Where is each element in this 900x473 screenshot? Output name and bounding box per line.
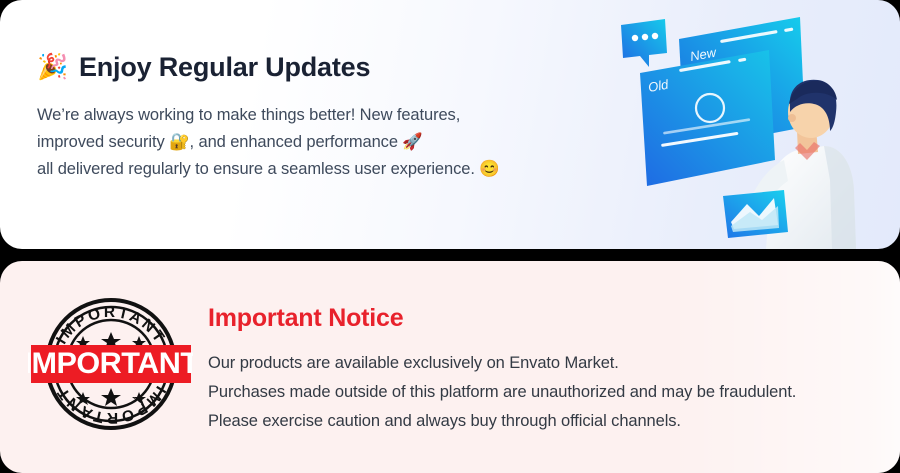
illustration-label-old: Old xyxy=(647,77,670,95)
important-stamp-icon: IMPORTANT IMPORTANT IMPORTANT xyxy=(28,288,193,438)
notice-text-block: Important Notice Our products are availa… xyxy=(208,305,878,436)
illustration-person xyxy=(743,80,856,249)
updates-illustration: New Old xyxy=(592,0,892,249)
updates-text-block: 🎉 Enjoy Regular Updates We’re always wor… xyxy=(37,52,597,183)
stamp-center-text: IMPORTANT xyxy=(28,347,193,380)
updates-body-line-3: all delivered regularly to ensure a seam… xyxy=(37,156,597,183)
notice-body-line-1: Our products are available exclusively o… xyxy=(208,349,878,378)
updates-panel: 🎉 Enjoy Regular Updates We’re always wor… xyxy=(0,0,900,249)
notice-body-line-3: Please exercise caution and always buy t… xyxy=(208,407,878,436)
updates-heading-label: Enjoy Regular Updates xyxy=(79,52,370,83)
updates-heading: 🎉 Enjoy Regular Updates xyxy=(37,52,597,83)
updates-body: We’re always working to make things bett… xyxy=(37,102,597,183)
illustration-chat-bubble-icon xyxy=(621,19,667,67)
party-popper-icon: 🎉 xyxy=(37,55,68,80)
notice-heading: Important Notice xyxy=(208,305,878,333)
promo-banner: 🎉 Enjoy Regular Updates We’re always wor… xyxy=(0,0,900,473)
illustration-card-old: Old xyxy=(640,50,775,186)
updates-body-line-2: improved security 🔐, and enhanced perfor… xyxy=(37,129,597,156)
notice-body: Our products are available exclusively o… xyxy=(208,349,878,436)
notice-body-line-2: Purchases made outside of this platform … xyxy=(208,378,878,407)
illustration-tablet xyxy=(723,190,788,238)
updates-body-line-1: We’re always working to make things bett… xyxy=(37,102,597,129)
illustration-label-new: New xyxy=(689,44,719,64)
illustration-card-new: New xyxy=(679,17,805,150)
notice-panel: IMPORTANT IMPORTANT IMPORTANT xyxy=(0,261,900,473)
